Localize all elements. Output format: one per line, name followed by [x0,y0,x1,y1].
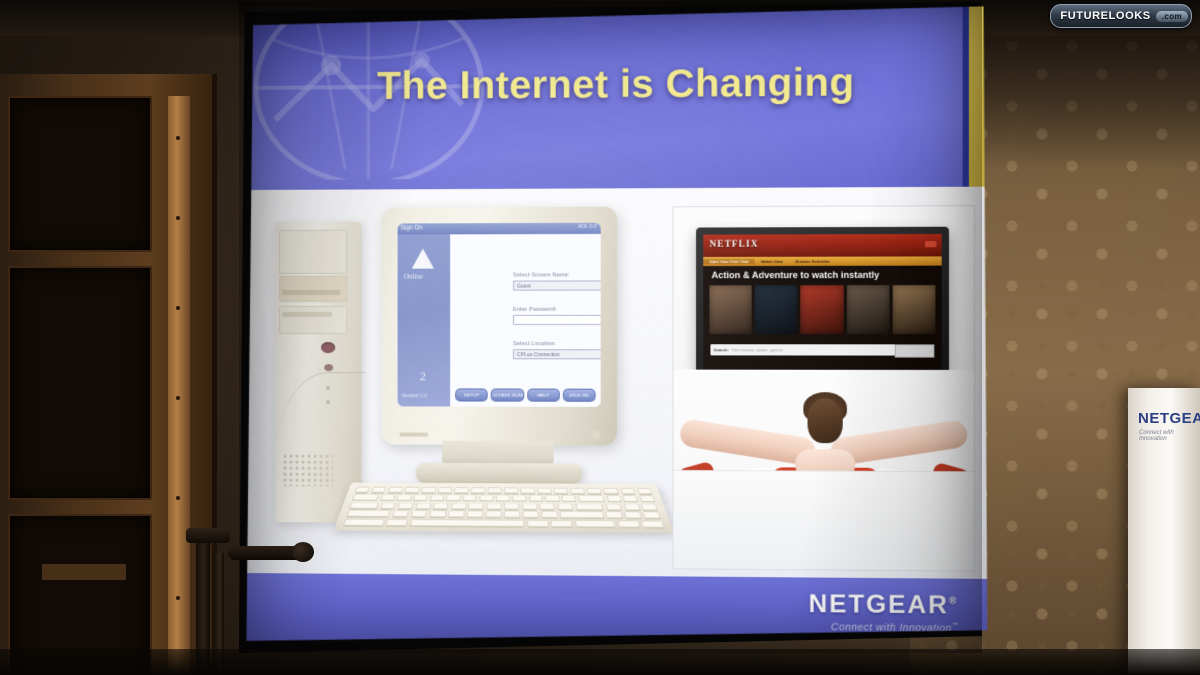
aol-side-number: 2 [420,369,426,384]
vintage-keyboard[interactable] [333,483,674,533]
location-dropdown[interactable]: CPLus Connection [513,349,601,359]
banner-tagline: Connect with Innovation [1139,430,1200,442]
aol-brand-script: Online [404,273,446,281]
aol-window-titlebar: Sign On [398,223,601,235]
location-field-group: Select Location: CPLus Connection [513,341,601,359]
netflix-title-row [709,285,935,334]
crt-monitor: Sign On AOL 5.0 Online 2 Version 5.0 Se [381,207,617,446]
futurelooks-watermark: FUTURELOOKS .com [1050,4,1192,28]
cd-tray-slot [282,290,340,295]
search-placeholder: Find movies, actors, genres [732,347,920,352]
help-button[interactable]: HELP [527,389,560,402]
desktop-tower-pc [275,222,361,523]
slide-header-band: The Internet is Changing [245,2,992,190]
slide-title: The Internet is Changing [245,60,992,110]
setup-button[interactable]: SETUP [455,388,488,401]
screen-name-label: Select Screen Name: [513,272,601,278]
slide-body: Sign On AOL 5.0 Online 2 Version 5.0 Se [245,187,992,579]
reset-button[interactable] [324,364,333,371]
access-numbers-button[interactable]: ACCESS NUMBERS [491,388,524,401]
nav-item-browse[interactable]: Browse Selection [789,259,836,264]
door-panel-middle [8,266,152,500]
floppy-slot [282,312,332,317]
person-head [808,398,843,443]
movie-thumbnail[interactable] [892,285,935,334]
aol-triangle-logo-icon [412,249,434,269]
nav-item-watch-now[interactable]: Watch Now [755,259,790,264]
door-jamb [168,96,190,675]
password-label: Enter Password: [513,307,601,313]
location-label: Select Location: [513,341,601,347]
mic-stand-clamp [186,528,230,543]
aol-button-row: SETUP ACCESS NUMBERS HELP SIGN ON [455,388,595,401]
nav-item-free-trial[interactable]: Start Your Free Trial [703,259,754,264]
watermark-brand: FUTURELOOKS [1060,10,1150,22]
door-slot [42,564,126,580]
keyboard-keys [343,487,664,528]
screen-name-field-group: Select Screen Name: Guest [513,272,601,290]
presentation-room-scene: NETGEAR Connect with Innovation The Inte… [0,0,1200,675]
search-label: Search: [714,347,729,352]
movie-thumbnail[interactable] [801,285,844,334]
netgear-roll-up-banner: NETGEAR Connect with Innovation [1128,388,1200,675]
tv-display: NETFLIX Start Your Free Trial Watch Now … [703,234,941,370]
aol-form-area: Select Screen Name: Guest Enter Password… [450,234,601,407]
drive-bay-blank [279,230,347,274]
netgear-logo: NETGEAR® Connect with Innovation™ [809,590,959,635]
microphone-head [292,542,314,562]
movie-thumbnail[interactable] [709,285,751,334]
floppy-drive [279,306,347,334]
couch-cushion [673,470,974,571]
password-input[interactable] [513,315,601,325]
crt-display: Sign On AOL 5.0 Online 2 Version 5.0 Se [398,223,601,407]
netflix-header-bar: NETFLIX [703,234,941,257]
banner-logo-text: NETGEAR [1138,410,1200,427]
netgear-wordmark: NETGEAR® [809,590,959,621]
netflix-nav-bar: Start Your Free Trial Watch Now Browse S… [703,256,941,266]
aol-sidebar: Online 2 Version 5.0 [398,234,451,406]
aol-version-corner: AOL 5.0 [578,224,597,230]
netflix-headline: Action & Adventure to watch instantly [711,270,879,280]
sign-on-button[interactable]: SIGN ON [563,389,596,402]
door-panel-top [8,96,152,252]
modern-streaming-photo: NETFLIX Start Your Free Trial Watch Now … [672,205,975,571]
movie-thumbnail[interactable] [755,285,798,334]
floor [0,649,1200,675]
netflix-logo: NETFLIX [709,239,758,249]
netflix-account-badge[interactable] [925,241,936,247]
white-couch [673,370,974,571]
aol-version-label: Version 5.0 [402,393,427,399]
screen-name-value: Guest [517,284,531,290]
vent-grille [283,454,333,486]
power-button[interactable] [321,342,335,353]
movie-thumbnail[interactable] [847,285,890,334]
aol-signon-window: Sign On AOL 5.0 Online 2 Version 5.0 Se [398,223,601,407]
flat-screen-tv: NETFLIX Start Your Free Trial Watch Now … [696,227,949,382]
presentation-slide: The Internet is Changing [245,2,992,653]
watermark-domain: .com [1156,11,1188,22]
monitor-brand-plate [400,433,428,437]
password-field-group: Enter Password: [513,307,601,325]
monitor-base [416,463,583,484]
location-value: CPLus Connection [517,352,559,358]
search-submit-button[interactable] [895,344,935,357]
screen-name-dropdown[interactable]: Guest [513,280,601,290]
vintage-computer-photo: Sign On AOL 5.0 Online 2 Version 5.0 Se [263,206,668,567]
monitor-power-knob[interactable] [591,430,600,439]
